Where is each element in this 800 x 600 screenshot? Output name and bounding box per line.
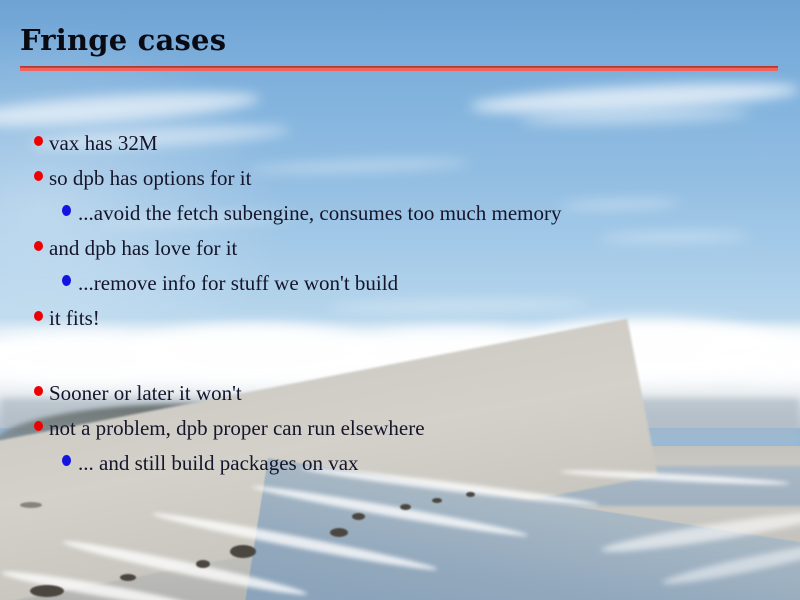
bullet-text: it fits! [49,306,100,330]
bullet-item: ... and still build packages on vax [62,451,359,481]
bullet-text: vax has 32M [49,131,158,155]
presentation-slide: Fringe cases vax has 32Mso dpb has optio… [0,0,800,600]
bullet-text: ...remove info for stuff we won't build [78,271,398,295]
title-underline-rule [20,66,778,71]
bullet-item: and dpb has love for it [34,236,237,266]
blue-dot-bullet [62,455,71,466]
red-dot-bullet [34,421,43,431]
red-dot-bullet [34,311,43,321]
bullet-text: not a problem, dpb proper can run elsewh… [49,416,425,440]
bullet-text: Sooner or later it won't [49,381,242,405]
bullet-text: so dpb has options for it [49,166,251,190]
bullet-item: ...remove info for stuff we won't build [62,271,398,301]
red-dot-bullet [34,386,43,396]
bullet-item: it fits! [34,306,100,336]
slide-title: Fringe cases [20,22,226,58]
red-dot-bullet [34,241,43,251]
blue-dot-bullet [62,205,71,216]
bullet-item: Sooner or later it won't [34,381,242,411]
bullet-item: not a problem, dpb proper can run elsewh… [34,416,425,446]
bullet-text: ... and still build packages on vax [78,451,359,475]
red-dot-bullet [34,136,43,146]
bullet-text: ...avoid the fetch subengine, consumes t… [78,201,561,225]
red-dot-bullet [34,171,43,181]
bullet-text: and dpb has love for it [49,236,237,260]
slide-content: Fringe cases vax has 32Mso dpb has optio… [0,0,800,600]
bullet-item: vax has 32M [34,131,158,161]
blue-dot-bullet [62,275,71,286]
bullet-item: ...avoid the fetch subengine, consumes t… [62,201,561,231]
bullet-item: so dpb has options for it [34,166,251,196]
